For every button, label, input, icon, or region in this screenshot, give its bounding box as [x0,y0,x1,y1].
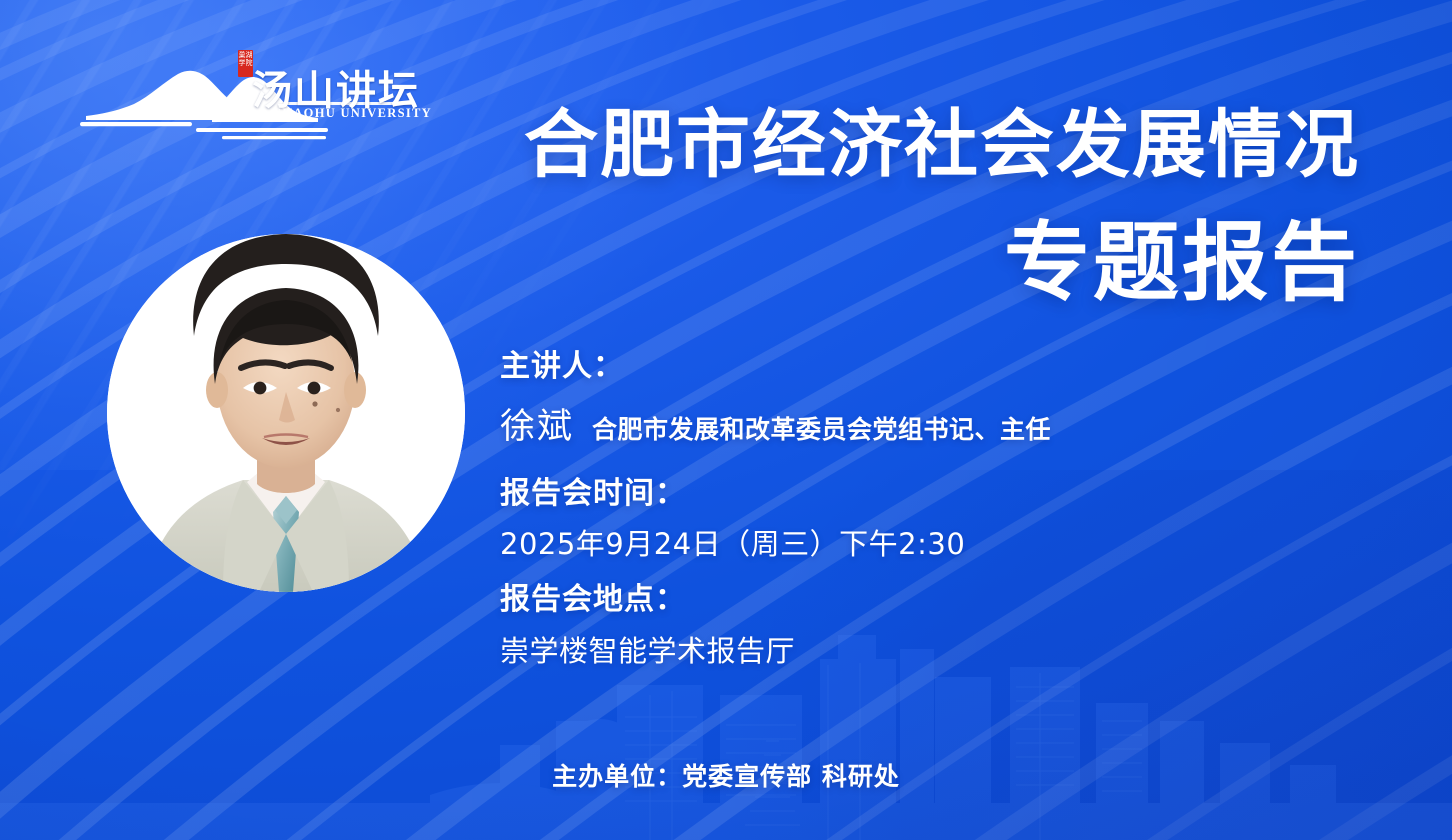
portrait-hair-overflow [188,220,384,340]
speaker-title: 合肥市发展和改革委员会党组书记、主任 [592,410,1051,446]
organizer-line: 主办单位：党委宣传部 科研处 [0,757,1452,793]
red-seal-icon: 巢湖学院 [238,50,253,77]
speaker-portrait [107,234,465,592]
title-line-2: 专题报告 [524,220,1360,306]
place-value: 崇学楼智能学术报告厅 [500,628,1280,670]
chaohu-university-logo: 巢湖学院 汤山讲坛 CHAOHU UNIVERSITY [72,52,417,144]
poster-canvas: 巢湖学院 汤山讲坛 CHAOHU UNIVERSITY [0,0,1452,840]
event-details: 主讲人： 徐斌 合肥市发展和改革委员会党组书记、主任 报告会时间： 2025年9… [500,348,1280,670]
logo-name-en: CHAOHU UNIVERSITY [272,106,432,121]
title-line-1: 合肥市经济社会发展情况 [524,108,1360,182]
speaker-label: 主讲人： [500,348,1280,386]
time-label: 报告会时间： [500,475,1280,513]
place-label: 报告会地点： [500,581,1280,619]
speaker-name: 徐斌 [500,398,574,449]
time-value: 2025年9月24日（周三）下午2:30 [500,521,1280,563]
speaker-row: 徐斌 合肥市发展和改革委员会党组书记、主任 [500,398,1280,449]
poster-title: 合肥市经济社会发展情况 专题报告 [524,108,1360,306]
